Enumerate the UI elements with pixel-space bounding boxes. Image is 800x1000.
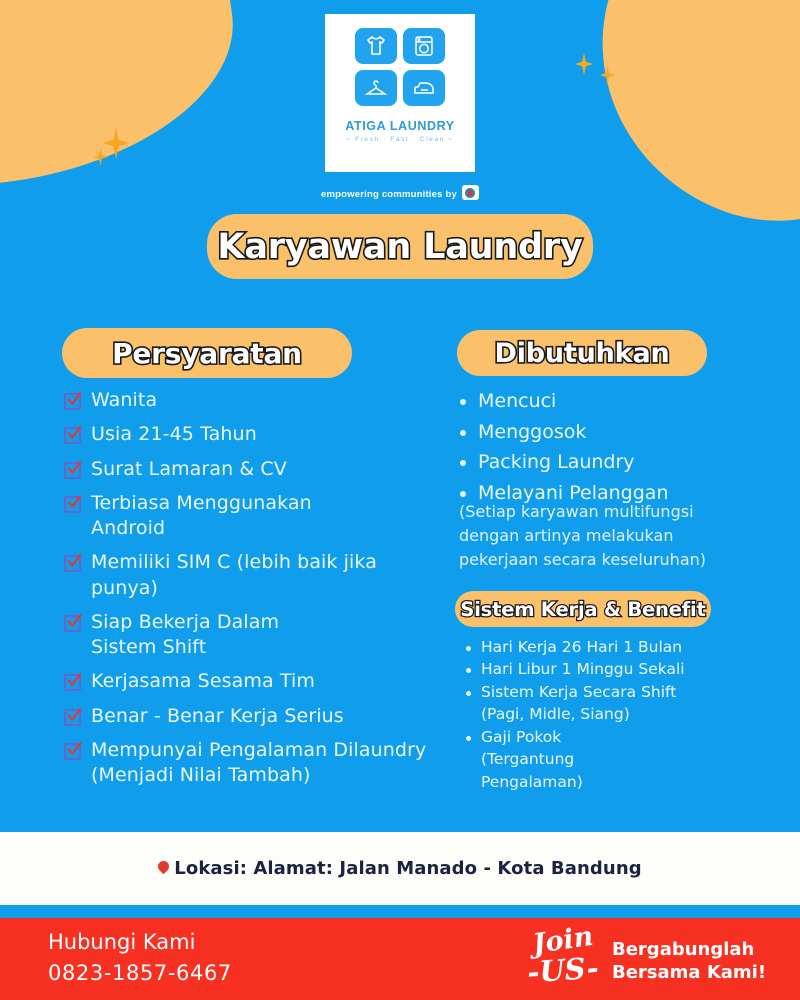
bullet-icon [460,491,466,497]
checkbox-checked-icon [64,427,81,444]
contact-phone[interactable]: 0823-1857-6467 [48,961,232,985]
sparkle-icon [93,148,108,166]
checkbox-checked-icon [64,555,81,572]
needed-list: Mencuci Menggosok Packing Laundry Melaya… [460,388,760,510]
bullet-icon [460,460,466,466]
requirement-text: Benar - Benar Kerja Serius [91,704,344,729]
bullet-icon [466,646,471,651]
checkbox-checked-icon [64,615,81,632]
contact-title: Hubungi Kami [48,930,232,954]
requirement-text: Usia 21-45 Tahun [91,422,257,447]
bullet-icon [466,736,471,741]
requirement-text: Terbiasa Menggunakan Android [91,491,363,542]
benefit-text: Gaji Pokok (Tergantung Pengalaman) [481,726,659,793]
bullet-icon [466,691,471,696]
list-item: Kerjasama Sesama Tim [64,669,464,694]
list-item: Wanita [64,388,464,413]
system-heading: Sistem Kerja & Benefit [460,598,705,621]
partner-logo-icon [462,185,479,200]
list-item: Sistem Kerja Secara Shift (Pagi, Midle, … [466,681,766,726]
page-title-banner: Karyawan Laundry [207,214,593,279]
list-item: Surat Lamaran & CV [64,457,464,482]
checkbox-checked-icon [64,743,81,760]
list-item: Packing Laundry [460,449,760,477]
checkbox-checked-icon [64,709,81,726]
join-us-logo: Join -US- [508,928,618,985]
sparkle-icon [575,52,593,76]
requirements-list: Wanita Usia 21-45 Tahun Surat Lamaran & … [64,388,464,797]
requirement-text: Mempunyai Pengalaman Dilaundry (Menjadi … [91,738,464,789]
page-title: Karyawan Laundry [217,227,582,267]
requirements-heading: Persyaratan [112,337,302,370]
iron-icon [403,70,445,106]
requirement-text: Memiliki SIM C (lebih baik jika punya) [91,550,391,601]
list-item: Benar - Benar Kerja Serius [64,704,464,729]
tshirt-icon [355,28,397,64]
benefit-text: Hari Libur 1 Minggu Sekali [481,658,685,680]
brand-logo-card: ATIGA LAUNDRY ~ Fresh · Fast · Clean ~ [325,14,475,172]
join-tagline: Bergabunglah Bersama Kami! [612,938,766,984]
logo-icon-grid [354,28,446,106]
checkbox-checked-icon [64,462,81,479]
system-heading-banner: Sistem Kerja & Benefit [455,591,711,627]
needed-heading: Dibutuhkan [495,338,670,369]
needed-text: Packing Laundry [478,449,635,477]
bullet-icon [466,668,471,673]
orange-blob-top-left [0,0,251,209]
join-tagline-line-2: Bersama Kami! [612,961,766,984]
list-item: Mempunyai Pengalaman Dilaundry (Menjadi … [64,738,464,789]
join-tagline-line-1: Bergabunglah [612,938,766,961]
requirement-text: Surat Lamaran & CV [91,457,287,482]
contact-block: Hubungi Kami 0823-1857-6467 [48,930,232,985]
location-line: Lokasi: Alamat: Jalan Manado - Kota Band… [158,858,641,879]
list-item: Menggosok [460,419,760,447]
requirements-heading-banner: Persyaratan [62,328,352,378]
benefit-list: Hari Kerja 26 Hari 1 Bulan Hari Libur 1 … [466,636,766,793]
location-text: Lokasi: Alamat: Jalan Manado - Kota Band… [174,858,641,879]
list-item: Hari Kerja 26 Hari 1 Bulan [466,636,766,658]
orange-blob-top-right [550,0,800,265]
multifunction-note: (Setiap karyawan multifungsi dengan arti… [459,500,749,572]
needed-text: Menggosok [478,419,586,447]
sparkle-icon [600,65,615,85]
logo-brand-name: ATIGA LAUNDRY [325,119,475,133]
list-item: Siap Bekerja Dalam Sistem Shift [64,610,464,661]
job-poster: ATIGA LAUNDRY ~ Fresh · Fast · Clean ~ e… [0,0,800,1000]
list-item: Terbiasa Menggunakan Android [64,491,464,542]
list-item: Hari Libur 1 Minggu Sekali [466,658,766,680]
list-item: Gaji Pokok (Tergantung Pengalaman) [466,726,766,793]
location-bar: Lokasi: Alamat: Jalan Manado - Kota Band… [0,832,800,905]
benefit-text: Hari Kerja 26 Hari 1 Bulan [481,636,682,658]
bullet-icon [460,399,466,405]
empowered-by-label: empowering communities by [321,189,457,200]
logo-tagline: ~ Fresh · Fast · Clean ~ [325,136,475,143]
list-item: Mencuci [460,388,760,416]
hanger-icon [355,70,397,106]
list-item: Memiliki SIM C (lebih baik jika punya) [64,550,464,601]
requirement-text: Wanita [91,388,157,413]
benefit-text: Sistem Kerja Secara Shift (Pagi, Midle, … [481,681,713,726]
footer-bar: Hubungi Kami 0823-1857-6467 Join -US- Be… [0,918,800,1000]
washing-machine-icon [403,28,445,64]
checkbox-checked-icon [64,496,81,513]
requirement-text: Siap Bekerja Dalam Sistem Shift [91,610,331,661]
bullet-icon [460,430,466,436]
needed-text: Mencuci [478,388,556,416]
empowered-by-line: empowering communities by [0,185,800,200]
needed-heading-banner: Dibutuhkan [457,330,707,376]
list-item: Usia 21-45 Tahun [64,422,464,447]
requirement-text: Kerjasama Sesama Tim [91,669,315,694]
checkbox-checked-icon [64,674,81,691]
checkbox-checked-icon [64,393,81,410]
sparkle-icon [103,127,129,159]
map-pin-icon [158,861,169,876]
